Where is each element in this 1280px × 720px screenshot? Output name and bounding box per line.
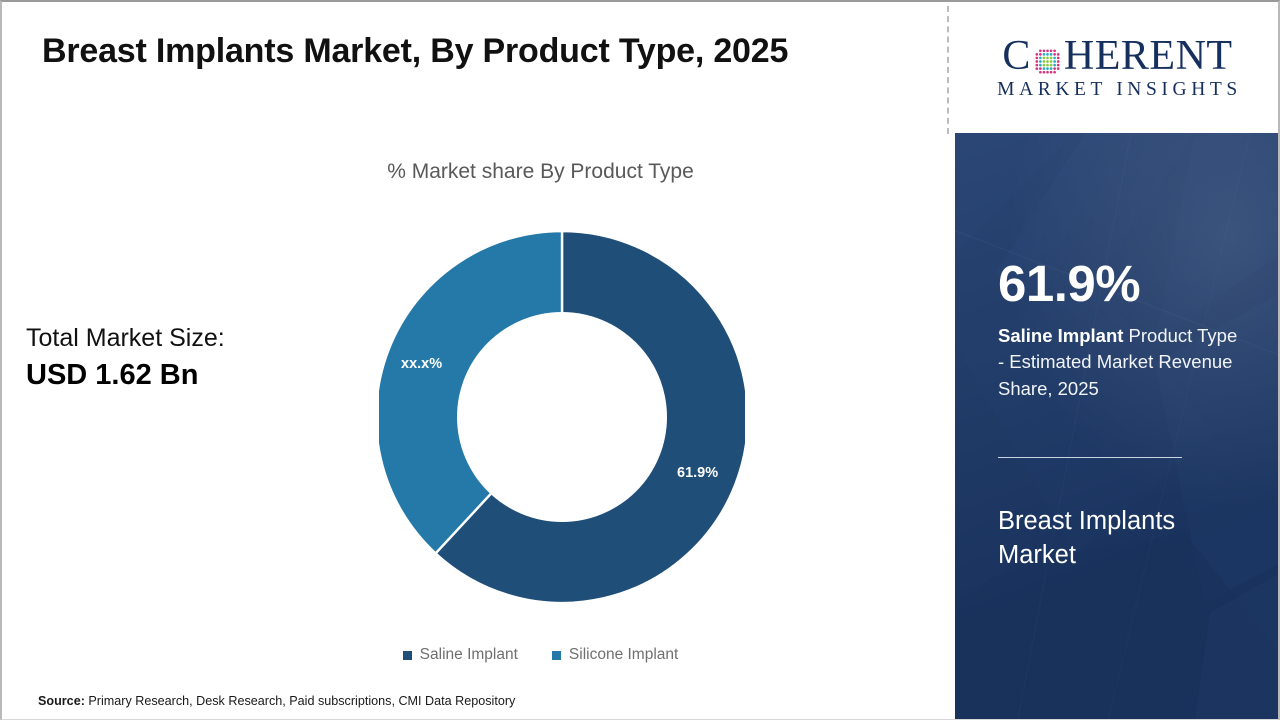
right-column: C HERENT MARKET INSIGHTS (955, 2, 1280, 720)
legend-item[interactable]: Silicone Implant (552, 646, 678, 664)
globe-dot (1053, 67, 1056, 70)
logo-letter-c: C (1002, 35, 1031, 77)
panel-divider-rule (998, 457, 1182, 458)
globe-dot (1053, 56, 1056, 59)
stat-desc-highlight: Saline Implant (998, 325, 1123, 346)
source-note: Source: Primary Research, Desk Research,… (38, 694, 515, 708)
donut-chart-svg (379, 231, 745, 603)
brand-logo: C HERENT MARKET INSIGHTS (955, 2, 1280, 133)
globe-dot (1039, 71, 1042, 74)
legend-item[interactable]: Saline Implant (403, 646, 518, 664)
headline-stat-description: Saline Implant Product Type - Estimated … (998, 323, 1246, 402)
globe-dot (1035, 63, 1038, 66)
legend-label: Saline Implant (420, 646, 518, 664)
total-market-size-block: Total Market Size: USD 1.62 Bn (26, 324, 225, 392)
globe-dot (1050, 71, 1053, 74)
globe-dot (1057, 60, 1060, 63)
globe-dot (1039, 53, 1042, 56)
globe-dot (1057, 53, 1060, 56)
globe-dot (1057, 63, 1060, 66)
legend-swatch-icon (403, 651, 412, 660)
globe-dot (1046, 49, 1049, 52)
globe-dot (1057, 56, 1060, 59)
globe-dot (1046, 53, 1049, 56)
globe-dot (1043, 49, 1046, 52)
globe-dot (1057, 67, 1060, 70)
slice-label-saline: 61.9% (677, 465, 718, 481)
globe-dot (1039, 56, 1042, 59)
globe-dot (1050, 56, 1053, 59)
globe-dot (1043, 71, 1046, 74)
globe-dot (1046, 60, 1049, 63)
logo-tagline: MARKET INSIGHTS (993, 80, 1242, 100)
logo-wordmark-rest: HERENT (1064, 35, 1233, 77)
infographic-page: Breast Implants Market, By Product Type,… (0, 0, 1280, 720)
globe-dot (1039, 63, 1042, 66)
globe-dot (1046, 71, 1049, 74)
globe-dot (1035, 67, 1038, 70)
slice-label-silicone: xx.x% (401, 356, 442, 372)
chart-subtitle: % Market share By Product Type (257, 160, 694, 184)
globe-dot (1043, 60, 1046, 63)
globe-dot (1043, 53, 1046, 56)
market-size-label: Total Market Size: (26, 324, 225, 354)
globe-dot (1050, 63, 1053, 66)
globe-dot (1053, 60, 1056, 63)
logo-wordmark-top: C HERENT (1002, 35, 1232, 77)
chart-legend: Saline ImplantSilicone Implant (2, 646, 949, 664)
legend-swatch-icon (552, 651, 561, 660)
chart-subtitle-row: % Market share By Product Type (2, 160, 949, 184)
globe-dot (1035, 60, 1038, 63)
globe-dot (1053, 49, 1056, 52)
globe-dot (1053, 71, 1056, 74)
panel-content: 61.9% Saline Implant Product Type - Esti… (998, 133, 1250, 720)
legend-label: Silicone Implant (569, 646, 678, 664)
source-text: Primary Research, Desk Research, Paid su… (85, 694, 515, 708)
globe-dot (1053, 63, 1056, 66)
globe-dot (1050, 60, 1053, 63)
page-title: Breast Implants Market, By Product Type,… (42, 32, 788, 71)
globe-dot (1050, 53, 1053, 56)
globe-dot (1046, 63, 1049, 66)
main-content-area: Breast Implants Market, By Product Type,… (2, 2, 949, 720)
globe-dot (1050, 49, 1053, 52)
globe-dot (1053, 53, 1056, 56)
vertical-dashed-divider (947, 6, 949, 134)
market-size-value: USD 1.62 Bn (26, 358, 225, 392)
globe-dots-icon (1032, 43, 1063, 74)
globe-dot (1043, 67, 1046, 70)
globe-dot (1046, 67, 1049, 70)
globe-dot (1035, 53, 1038, 56)
globe-dot (1039, 67, 1042, 70)
donut-hole (457, 312, 667, 522)
globe-dot (1039, 49, 1042, 52)
globe-dot (1039, 60, 1042, 63)
globe-dot (1050, 67, 1053, 70)
globe-dot (1043, 63, 1046, 66)
globe-dot (1046, 56, 1049, 59)
donut-chart: xx.x% 61.9% (379, 231, 745, 603)
source-label: Source: (38, 694, 85, 708)
side-stat-panel: 61.9% Saline Implant Product Type - Esti… (955, 133, 1280, 720)
headline-stat-value: 61.9% (998, 258, 1140, 309)
panel-market-name: Breast Implants Market (998, 505, 1246, 572)
globe-dot (1035, 56, 1038, 59)
globe-dot (1043, 56, 1046, 59)
